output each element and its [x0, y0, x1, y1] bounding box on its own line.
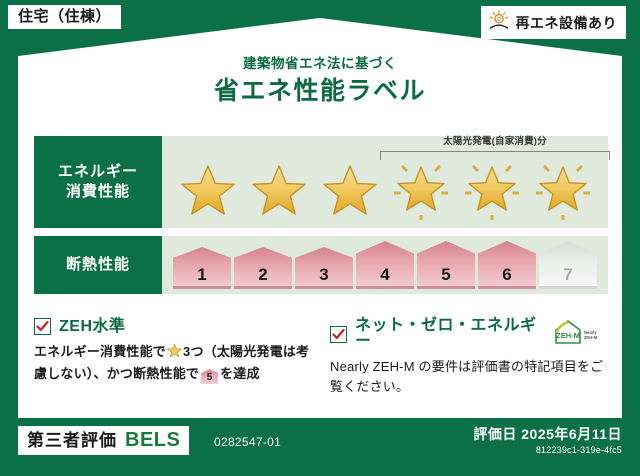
insulation-badge-2: 2 [234, 247, 292, 289]
label-title-block: 建築物省エネ法に基づく 省エネ性能ラベル [0, 56, 640, 106]
check-icon [36, 320, 49, 333]
nze-note-body: Nearly ZEH-M の要件は評価書の特記項目をご覧ください。 [330, 357, 608, 397]
zeh-body-part1: エネルギー消費性能で [34, 344, 166, 359]
insulation-badge-5: 5 [417, 241, 475, 289]
inline-star-icon [167, 346, 182, 361]
housing-type-tag: 住宅（住棟） [8, 5, 121, 29]
insulation-badge-6: 6 [478, 241, 536, 289]
insulation-performance-row: 断熱性能 1 2 3 4 5 6 7 [34, 236, 608, 294]
nze-checkbox[interactable] [330, 326, 347, 343]
performance-rows: エネルギー 消費性能 太陽光発電(自家消費)分 [34, 136, 608, 302]
sun-renewable-icon: D [488, 10, 510, 35]
zeh-m-logo-icon: ZEH-M Nearly ZEH-M [552, 319, 608, 350]
evaluation-date: 評価日 2025年6月11日 [473, 426, 622, 443]
svg-text:ZEH-M: ZEH-M [584, 335, 598, 340]
zeh-note-header: ZEH水準 [34, 318, 312, 335]
star-6-solar [530, 157, 596, 223]
zeh-note-body: エネルギー消費性能で3つ（太陽光発電は考慮しない）、かつ断熱性能で5を達成 [34, 342, 312, 384]
insulation-badge-1: 1 [173, 247, 231, 289]
svg-text:D: D [496, 17, 500, 23]
zeh-body-star-count: 3つ [183, 344, 204, 359]
net-zero-energy-note: ネット・ゼロ・エネルギー ZEH-M Nearly ZEH-M Nearly Z… [330, 318, 608, 397]
label-footer: 第三者評価 BELS 0282547-01 評価日 2025年6月11日 812… [0, 418, 640, 476]
star-2 [246, 157, 312, 223]
label-subtitle: 建築物省エネ法に基づく [0, 56, 640, 72]
energy-performance-label: エネルギー 消費性能 [34, 136, 162, 228]
zeh-standard-note: ZEH水準 エネルギー消費性能で3つ（太陽光発電は考慮しない）、かつ断熱性能で5… [34, 318, 312, 397]
star-rating [162, 154, 608, 226]
nze-note-header: ネット・ゼロ・エネルギー ZEH-M Nearly ZEH-M [330, 318, 608, 350]
star-5-solar [459, 157, 525, 223]
insulation-badge-4: 4 [356, 241, 414, 289]
energy-label-line2: 消費性能 [66, 182, 130, 202]
star-3 [317, 157, 383, 223]
energy-performance-value: 太陽光発電(自家消費)分 [162, 136, 608, 228]
svg-text:ZEH-M: ZEH-M [556, 331, 580, 340]
renewable-tag-label: 再エネ設備あり [516, 16, 618, 30]
insulation-badge-7: 7 [539, 241, 597, 289]
notes-section: ZEH水準 エネルギー消費性能で3つ（太陽光発電は考慮しない）、かつ断熱性能で5… [34, 318, 608, 397]
star-1 [175, 157, 241, 223]
evaluation-date-block: 評価日 2025年6月11日 812239c1-319e-4fc5 [473, 426, 622, 455]
zeh-checkbox[interactable] [34, 318, 51, 335]
energy-performance-row: エネルギー 消費性能 太陽光発電(自家消費)分 [34, 136, 608, 228]
zeh-body-part3: を達成 [220, 366, 260, 381]
label-main-title: 省エネ性能ラベル [0, 78, 640, 106]
bels-jp-label: 第三者評価 [27, 432, 117, 449]
insulation-performance-value: 1 2 3 4 5 6 7 [162, 236, 608, 294]
zeh-note-title: ZEH水準 [59, 319, 126, 335]
insulation-badge-list: 1 2 3 4 5 6 7 [162, 236, 608, 294]
inline-insulation-badge: 5 [201, 369, 218, 384]
insulation-badge-3: 3 [295, 247, 353, 289]
bels-en-label: BELS [125, 430, 180, 450]
energy-performance-label: 住宅（住棟） D 再エネ設備あり 建築物省エネ法に基づく 省エネ性能ラベル [0, 0, 640, 476]
bels-badge: 第三者評価 BELS [18, 426, 189, 455]
star-4-solar [388, 157, 454, 223]
check-icon [332, 328, 345, 341]
solar-generation-note: 太陽光発電(自家消費)分 [380, 137, 610, 147]
energy-label-line1: エネルギー [58, 162, 138, 182]
evaluation-hash: 812239c1-319e-4fc5 [473, 446, 622, 455]
renewable-equipment-tag: D 再エネ設備あり [481, 6, 627, 39]
bels-number: 0282547-01 [214, 436, 281, 448]
nze-note-title: ネット・ゼロ・エネルギー [355, 318, 538, 350]
insulation-performance-label: 断熱性能 [34, 236, 162, 294]
